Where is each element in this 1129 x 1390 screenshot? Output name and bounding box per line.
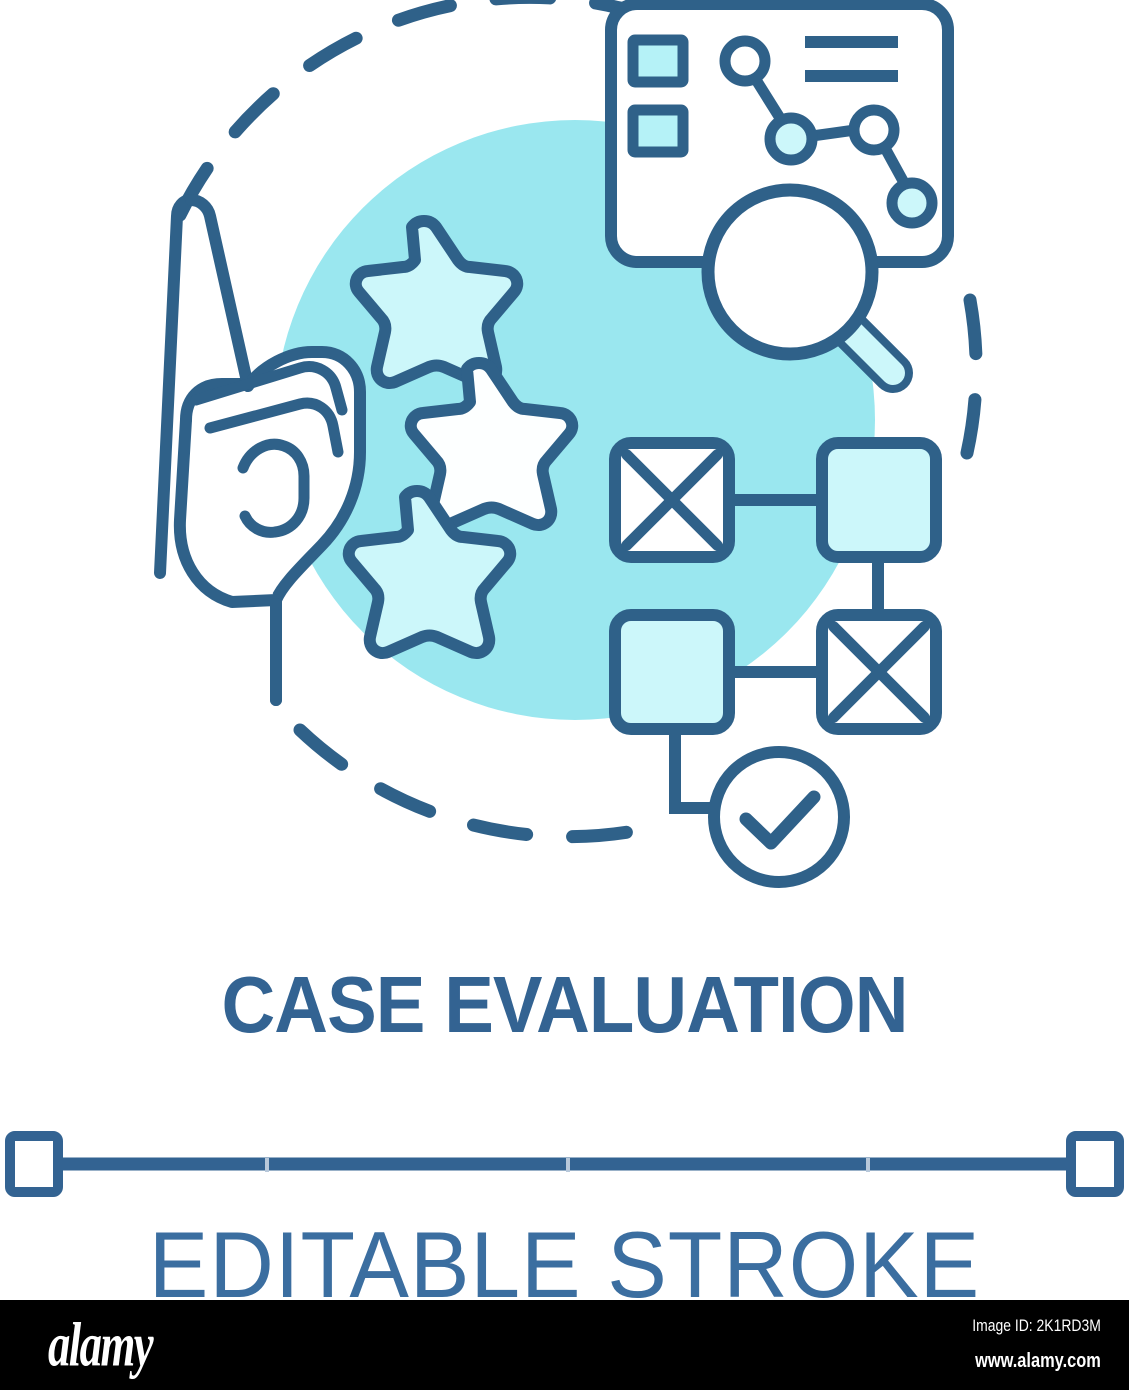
site-url-label: www.alamy.com (972, 1342, 1101, 1380)
stroke-handle-right[interactable] (1071, 1136, 1119, 1192)
image-id-label: Image ID: 2K1RD3M (972, 1310, 1101, 1342)
flow-node-bottom-left (615, 615, 729, 729)
page-title: CASE EVALUATION (40, 965, 1090, 1045)
footer-meta: Image ID: 2K1RD3M www.alamy.com (944, 1310, 1101, 1380)
node-graph-node-1 (725, 41, 765, 81)
flow-node-bottom-right (822, 615, 936, 729)
editable-stroke-caption: EDITABLE STROKE (28, 1218, 1101, 1312)
concept-icon-page: CASE EVALUATION EDITABLE STROKE alamy (0, 0, 1129, 1390)
dashboard-checkbox-top (633, 40, 683, 82)
flow-node-top-left (615, 443, 729, 557)
footer-watermark-bar: alamy Image ID: 2K1RD3M www.alamy.com (0, 1300, 1129, 1390)
checkmark-circle-icon (714, 752, 844, 882)
editable-stroke-widget[interactable] (0, 1118, 1129, 1213)
dashboard-checkbox-bottom (633, 110, 683, 152)
node-graph-node-4 (892, 183, 932, 223)
node-graph-node-2 (770, 118, 812, 160)
stroke-handle-left[interactable] (10, 1136, 58, 1192)
node-graph-node-3 (854, 110, 894, 150)
case-evaluation-illustration (0, 0, 1129, 940)
alamy-logo: alamy (48, 1314, 152, 1377)
flow-node-top-right (822, 443, 936, 557)
